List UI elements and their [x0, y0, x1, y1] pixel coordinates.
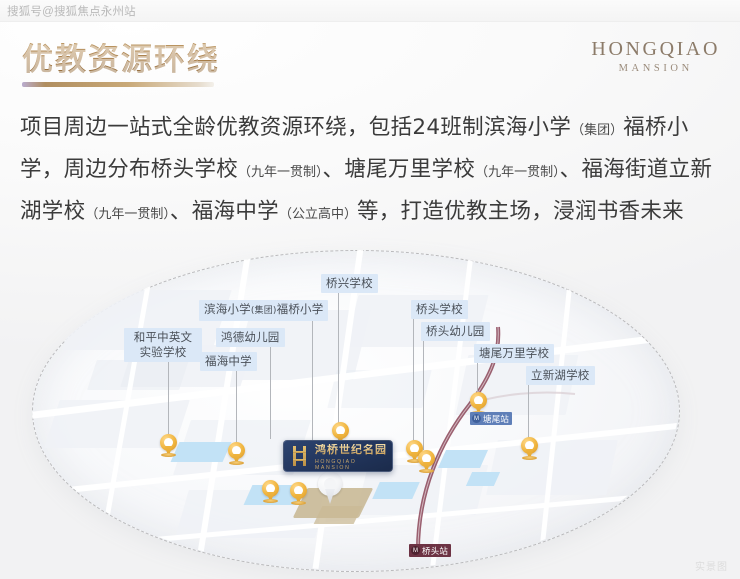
source-bar: 搜狐号@搜狐焦点永州站 [0, 0, 740, 22]
paragraph-seg-6-note: （九年一贯制） [85, 207, 170, 222]
map-pin-hongde [262, 480, 279, 503]
station-tangwei-name: 塘尾站 [483, 413, 509, 425]
leader-line-binhai [312, 318, 313, 444]
paragraph-seg-8: 等，打造优教主场，浸润书香未来 [357, 199, 684, 224]
page-title: 优教资源环绕 [22, 34, 220, 79]
map-terrain [32, 250, 678, 570]
project-badge-text: 鸿桥世纪名园 HONGQIAO MANSION [315, 441, 392, 470]
source-bar-text: 搜狐号@搜狐焦点永州站 [0, 3, 136, 19]
map-label-binhai[interactable]: 滨海小学(集团)福桥小学 [199, 300, 328, 321]
paragraph-seg-5: 、福海街道立新 [560, 157, 713, 182]
leader-line-fuhai-zhongxue [236, 368, 237, 446]
title-underline-rule [22, 82, 214, 87]
map-label-heping[interactable]: 和平中英文 实验学校 [124, 328, 202, 362]
brand-name-line1: HONGQIAO [591, 38, 720, 60]
leader-line-qiaoxing [338, 292, 339, 440]
map-label-binhai-b: 福桥小学 [277, 302, 324, 316]
project-name-cn: 鸿桥世纪名园 [315, 444, 387, 456]
leader-line-lixinhu [528, 382, 529, 442]
paragraph-seg-1: 项目周边一站式全龄优教资源环绕，包括24班制滨海小学 [20, 115, 571, 140]
hongqiao-h-logo-icon [290, 445, 310, 467]
paragraph-seg-6: 湖学校 [20, 199, 85, 224]
brand-name-line2: MANSION [591, 63, 720, 74]
leader-line-qiaotou-xuexiao [413, 318, 414, 444]
map-label-qiaoxing[interactable]: 桥兴学校 [321, 274, 378, 293]
map-label-heping-line1: 和平中英文 [134, 330, 193, 344]
station-qiaotou[interactable]: M 桥头站 [409, 544, 451, 557]
leader-line-heping [168, 350, 169, 434]
station-tangwei[interactable]: M 塘尾站 [470, 412, 512, 425]
project-badge[interactable]: 鸿桥世纪名园 HONGQIAO MANSION [283, 440, 393, 472]
station-qiaotou-name: 桥头站 [422, 545, 448, 557]
paragraph-seg-1-note: （集团） [571, 123, 623, 138]
body-paragraph: 项目周边一站式全龄优教资源环绕，包括24班制滨海小学（集团）福桥小学，周边分布桥… [20, 108, 724, 234]
paragraph-seg-7-note: （公立高中） [279, 207, 357, 222]
paragraph-seg-3: 学，周边分布桥头学校 [20, 157, 238, 182]
map-label-binhai-a: 滨海小学 [204, 302, 251, 316]
map-label-qiaotou-xuexiao[interactable]: 桥头学校 [411, 300, 468, 319]
map-pin-qiaotou-youeryuan [418, 450, 435, 473]
map-label-qiaotou-youeryuan[interactable]: 桥头幼儿园 [421, 322, 490, 341]
metro-icon: M [411, 546, 420, 555]
paragraph-seg-4-note: （九年一贯制） [475, 165, 560, 180]
paragraph-seg-2: 福桥小 [623, 115, 688, 140]
paragraph-seg-7: 、福海中学 [170, 199, 279, 224]
map-label-binhai-note: (集团) [251, 306, 277, 316]
leader-line-qiaotou-youeryuan [423, 340, 424, 450]
leader-line-hongde [270, 344, 271, 439]
leader-line-tangwei [477, 362, 478, 394]
map-label-lixinhu[interactable]: 立新湖学校 [526, 366, 595, 385]
map-label-fuhai-zhongxue[interactable]: 福海中学 [200, 352, 257, 371]
map-label-hongde[interactable]: 鸿德幼儿园 [216, 328, 285, 347]
metro-icon: M [472, 414, 481, 423]
project-name-en: HONGQIAO MANSION [315, 460, 392, 470]
map-label-tangwei[interactable]: 塘尾万里学校 [474, 344, 554, 363]
map-pin-lixinhu [521, 437, 538, 460]
map-pin-binhai [290, 482, 307, 505]
map-watermark: 实景图 [695, 558, 728, 573]
map-pin-fuhai-zhongxue [228, 442, 245, 465]
location-map[interactable]: 鸿桥世纪名园 HONGQIAO MANSION 和平中英文 实验学校 福海中学 … [0, 232, 740, 579]
paragraph-seg-3-note: （九年一贯制） [238, 165, 323, 180]
slide-canvas: 优教资源环绕 HONGQIAO MANSION 项目周边一站式全龄优教资源环绕，… [0, 22, 740, 579]
slide-header: 优教资源环绕 HONGQIAO MANSION [0, 22, 740, 106]
paragraph-seg-4: 、塘尾万里学校 [323, 157, 476, 182]
brand-logo: HONGQIAO MANSION [591, 38, 720, 74]
map-pin-heping [160, 434, 177, 457]
map-label-heping-line2: 实验学校 [140, 345, 187, 359]
map-pin-project [318, 472, 342, 504]
